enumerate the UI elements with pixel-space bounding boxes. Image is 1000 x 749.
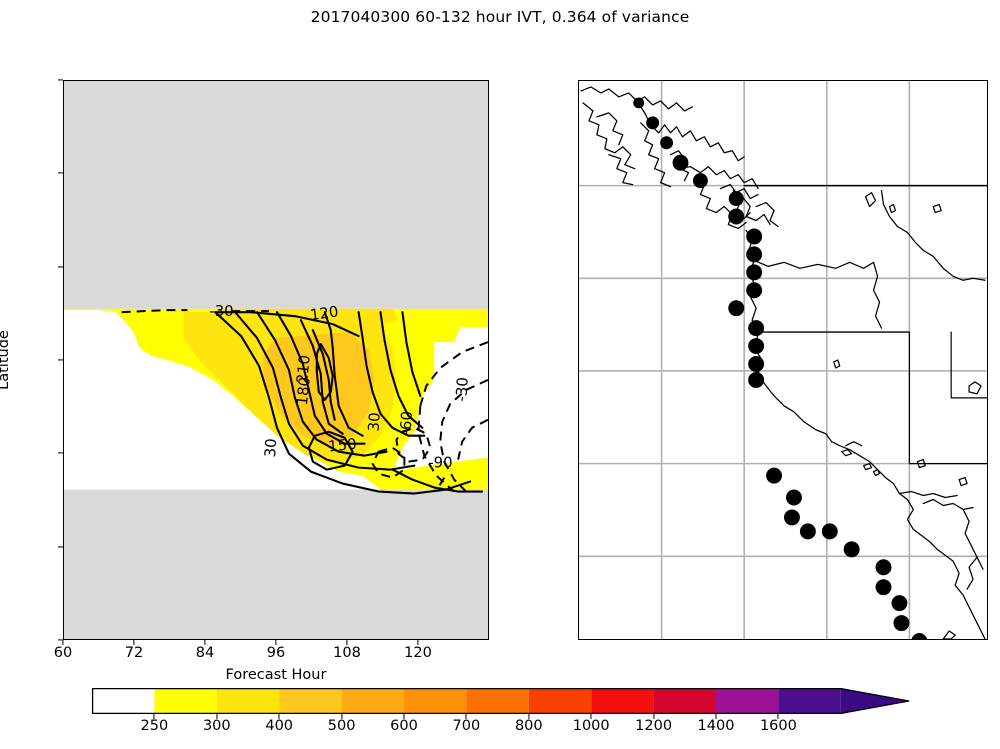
cb-seg-1000 [591,688,653,714]
station-marker [822,523,838,539]
station-marker [784,509,800,525]
cb-seg-1200 [654,688,716,714]
station-marker [660,136,673,149]
station-marker [748,356,764,372]
colorbar[interactable] [92,688,910,714]
contour-label-150: 150 [327,435,357,456]
station-marker [891,595,907,611]
station-marker [633,97,644,108]
map-svg [579,81,987,639]
cb-seg-400 [279,688,341,714]
cb-extend-arrow [841,688,910,714]
cb-seg-250 [154,688,216,714]
cb-tick-300: 300 [203,718,231,734]
station-marker [646,116,659,129]
contour-label-neg30-right: -30 [452,377,472,403]
x-tick-60: 60 [54,645,72,661]
cb-tick-800: 800 [515,718,543,734]
contour-label-180: 180 [293,376,314,406]
station-marker [693,173,708,188]
station-marker [748,320,764,336]
station-marker [844,541,860,557]
contour-label-neg30-top: -30 [209,302,233,320]
station-marker [748,372,764,388]
cb-tick-1600: 1600 [760,718,797,734]
reference-map[interactable] [578,80,988,640]
cb-seg-white [92,688,154,714]
cb-seg-500 [342,688,404,714]
station-marker [728,209,744,225]
ivt-shading [64,309,488,490]
station-marker [911,633,927,639]
cb-seg-600 [404,688,466,714]
station-marker [893,615,909,631]
coastal-station-markers[interactable] [633,97,967,639]
masked-band-south [64,490,488,639]
colorbar-svg [92,688,910,714]
contour-label-neg60: -60 [396,410,416,436]
cb-tick-700: 700 [453,718,481,734]
figure-canvas: 2017040300 60-132 hour IVT, 0.364 of var… [0,0,1000,749]
station-marker [766,468,782,484]
cb-tick-250: 250 [141,718,169,734]
x-tick-96: 96 [267,645,285,661]
x-tick-72: 72 [125,645,143,661]
station-marker [729,191,744,206]
station-marker [746,264,762,280]
x-axis-label: Forecast Hour [226,667,327,683]
cb-tick-1000: 1000 [573,718,610,734]
figure-title: 2017040300 60-132 hour IVT, 0.364 of var… [0,8,1000,26]
station-marker [786,490,802,506]
contour-label-neg90: -90 [428,454,452,472]
station-marker [876,579,892,595]
station-marker [876,559,892,575]
cb-tick-600: 600 [390,718,418,734]
masked-band-north [64,81,488,309]
x-tick-84: 84 [196,645,214,661]
station-marker [728,300,744,316]
contour-label-30-right: 30 [365,412,384,432]
x-tick-108: 108 [333,645,361,661]
cb-seg-1600 [778,688,840,714]
cb-tick-400: 400 [265,718,293,734]
station-marker [800,523,816,539]
map-gridlines [579,81,987,639]
cb-tick-1400: 1400 [698,718,735,734]
station-marker [746,228,762,244]
station-marker [673,155,689,171]
cb-seg-300 [217,688,279,714]
station-marker [748,338,764,354]
cb-tick-1200: 1200 [635,718,672,734]
hovmoller-plot-area[interactable]: -30 120 210 180 150 30 30 -60 -90 -30 [63,80,489,640]
y-axis-label: Latitude [0,330,12,390]
colorbar-segments [92,688,910,714]
cb-tick-500: 500 [328,718,356,734]
cb-seg-1400 [716,688,778,714]
hovmoller-svg: -30 120 210 180 150 30 30 -60 -90 -30 [64,81,488,639]
station-marker [746,282,762,298]
station-marker [746,246,762,262]
x-tick-120: 120 [404,645,432,661]
cb-seg-700 [466,688,528,714]
cb-seg-800 [529,688,591,714]
contour-label-30-left: 30 [261,438,280,458]
